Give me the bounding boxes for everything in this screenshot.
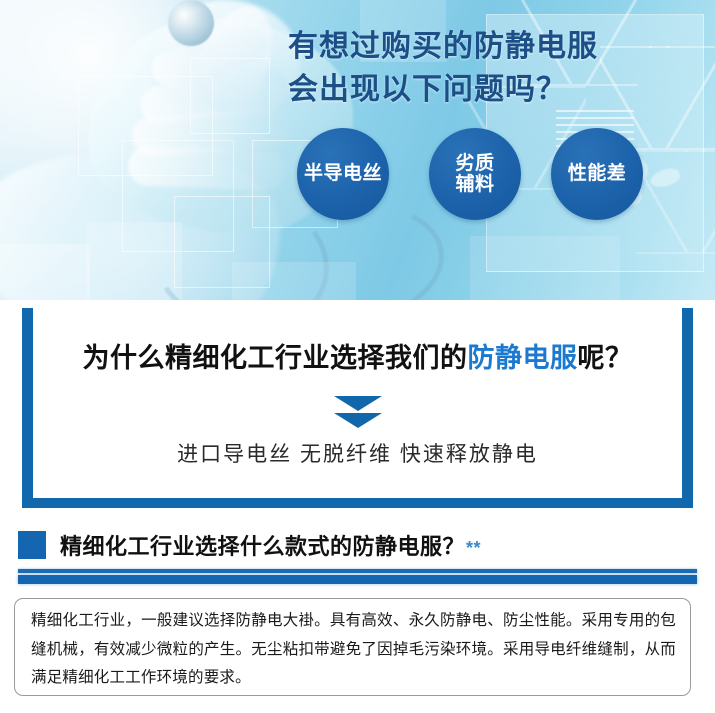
section-heading-title: 精细化工行业选择什么款式的防静电服？** [60,529,481,561]
body-paragraph: 精细化工行业，一般建议选择防静电大褂。具有高效、永久防静电、防尘性能。采用专用的… [31,607,676,693]
badge-poor-performance[interactable]: 性能差 [551,128,643,220]
chevron-down-icon-1 [334,396,382,411]
badge-poor-performance-label: 性能差 [568,163,627,184]
badge-inferior-accessories-line-2: 辅料 [455,174,494,195]
hero-headline-line-2: 会出现以下问题吗？ [288,69,698,112]
blue-square-marker-icon [18,531,46,559]
tech-rectangle-3 [190,58,270,134]
badge-semiconductive-wire-label: 半导电丝 [304,163,382,184]
overlay-block-2 [0,244,90,300]
divider-rule-thick [18,575,697,584]
hero-headline: 有想过购买的防静电服 会出现以下问题吗？ [288,26,698,111]
why-section-subtitle: 进口导电丝 无脱纤维 快速释放静电 [33,438,682,468]
section-heading-block: 精细化工行业选择什么款式的防静电服？** [0,524,715,584]
down-arrow-group [33,396,682,428]
section-heading-stars: ** [466,538,481,558]
why-title-prefix: 为什么精细化工行业选择我们的 [83,343,468,373]
why-section: 为什么精细化工行业选择我们的防静电服呢？ 进口导电丝 无脱纤维 快速释放静电 [0,300,715,518]
body-text-box: 精细化工行业，一般建议选择防静电大褂。具有高效、永久防静电、防尘性能。采用专用的… [14,598,691,696]
badge-inferior-accessories-label: 劣质 辅料 [455,153,494,196]
badge-semiconductive-wire[interactable]: 半导电丝 [297,128,389,220]
section-heading-row: 精细化工行业选择什么款式的防静电服？** [0,524,715,566]
why-title-suffix: 呢？ [578,343,633,373]
badge-inferior-accessories-line-1: 劣质 [455,153,494,174]
stethoscope-chestpiece-icon [168,0,214,46]
why-section-title: 为什么精细化工行业选择我们的防静电服呢？ [33,336,682,375]
why-section-frame: 为什么精细化工行业选择我们的防静电服呢？ 进口导电丝 无脱纤维 快速释放静电 [22,308,693,508]
divider-rule-thin [18,569,697,573]
section-heading-text: 精细化工行业选择什么款式的防静电服？ [60,534,465,559]
hero-headline-line-1: 有想过购买的防静电服 [288,26,698,69]
hero-banner: 有想过购买的防静电服 会出现以下问题吗？ 半导电丝 劣质 辅料 性能差 [0,0,715,300]
why-title-highlight: 防静电服 [468,343,578,373]
badge-inferior-accessories[interactable]: 劣质 辅料 [429,128,521,220]
chevron-down-icon-2 [334,413,382,428]
hero-badge-group: 半导电丝 劣质 辅料 性能差 [0,128,715,228]
